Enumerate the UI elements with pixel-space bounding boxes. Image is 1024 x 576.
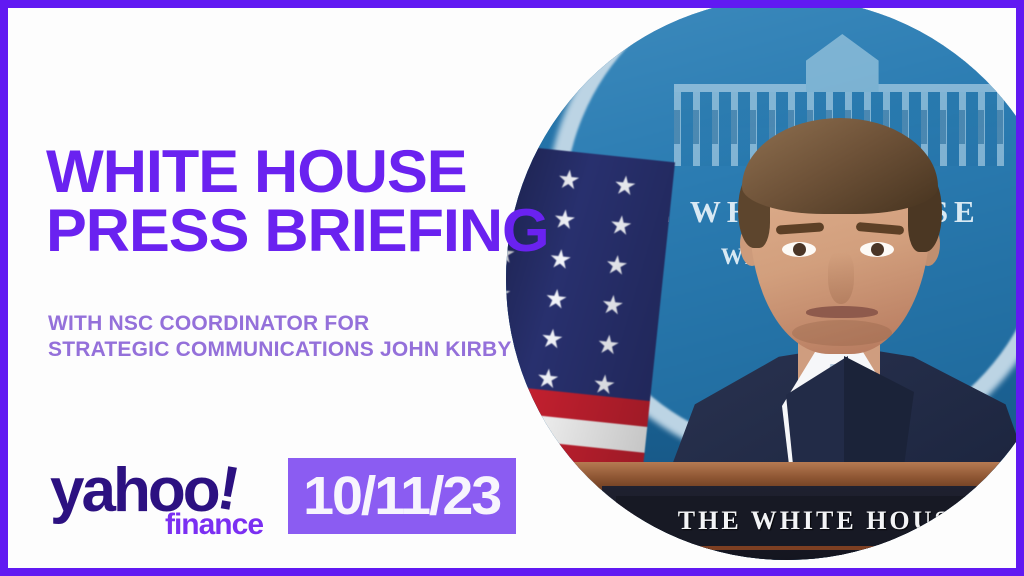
headline-line-2: PRESS BRIEFING: [46, 202, 505, 261]
speaker-photo: THE WHITE HOUSE WASHINGTON ★ ★ ★ ★ ★ ★ ★…: [506, 8, 1016, 560]
subheadline-line-1: WITH NSC COORDINATOR FOR: [48, 311, 518, 337]
subheadline-line-2: STRATEGIC COMMUNICATIONS JOHN KIRBY: [48, 337, 518, 363]
hair: [742, 118, 938, 214]
yahoo-finance-logo: yahoo! finance: [50, 460, 265, 542]
chin-shadow: [792, 320, 892, 346]
date-badge: 10/11/23: [288, 458, 516, 534]
subheadline: WITH NSC COORDINATOR FOR STRATEGIC COMMU…: [48, 311, 518, 363]
photo-image: THE WHITE HOUSE WASHINGTON ★ ★ ★ ★ ★ ★ ★…: [506, 8, 1016, 560]
date-badge-text: 10/11/23: [304, 469, 501, 523]
thumbnail-canvas: THE WHITE HOUSE WASHINGTON ★ ★ ★ ★ ★ ★ ★…: [8, 8, 1016, 568]
eye-left: [782, 242, 816, 257]
nose: [828, 252, 854, 304]
podium-plaque: THE WHITE HOUSE: [616, 496, 1016, 550]
video-thumbnail: THE WHITE HOUSE WASHINGTON ★ ★ ★ ★ ★ ★ ★…: [0, 0, 1024, 576]
eye-right: [860, 242, 894, 257]
headline-line-1: WHITE HOUSE: [46, 143, 505, 202]
mouth: [806, 306, 878, 318]
finance-wordmark: finance: [165, 510, 263, 540]
headline: WHITE HOUSE PRESS BRIEFING: [46, 143, 496, 261]
podium-plaque-text: THE WHITE HOUSE: [678, 506, 973, 536]
